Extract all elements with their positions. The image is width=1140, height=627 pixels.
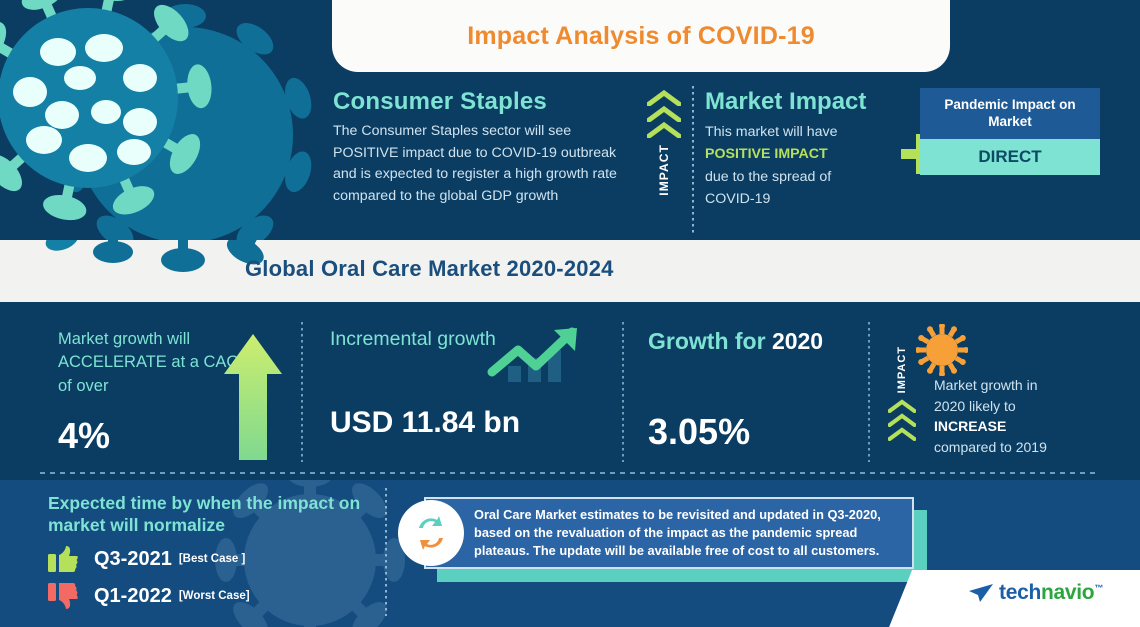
market-impact-line2: due to the spread of [705,169,831,185]
consumer-staples-body: The Consumer Staples sector will see POS… [333,121,633,207]
up-arrow-icon [222,332,284,462]
market-impact-heading: Market Impact [705,88,895,116]
thumbs-up-icon [48,545,78,573]
refresh-icon [398,500,464,566]
metrics-divider-3 [868,322,870,462]
header-impact-indicator: IMPACT [636,90,692,240]
header-divider [692,86,694,236]
logo-trademark: ™ [1094,583,1103,593]
worst-case-label: Q1-2022 [94,585,172,608]
thumbs-down-icon [48,582,78,610]
chevron-up-icon [647,122,681,138]
metric-growth-2020: Growth for 2020 3.05% [648,328,878,453]
logo-navio-part: navio [1041,581,1094,604]
metric-impact-text: Market growth in 2020 likely to INCREASE… [934,375,1114,458]
chevron-up-icon [888,399,916,413]
growth-lead: Growth for 2020 [648,328,878,355]
metric-impact-label: IMPACT [896,346,908,393]
growth-chart-icon [480,324,592,386]
bottom-divider [385,488,387,616]
callout-box: Oral Care Market estimates to be revisit… [424,497,914,569]
growth-lead-year: 2020 [772,328,823,354]
virus-illustration [0,0,340,240]
normalize-block: Expected time by when the impact on mark… [48,492,378,610]
header-section: Impact Analysis of COVID-19 Consumer Sta… [0,0,1140,240]
market-impact-line1: This market will have [705,124,837,140]
impact-highlight: INCREASE [934,418,1006,434]
pandemic-impact-title: Pandemic Impact on Market [920,88,1100,139]
technavio-arrow-icon [968,582,994,604]
market-title-bar: Global Oral Care Market 2020-2024 [0,240,1140,302]
chevron-up-icon [888,413,916,427]
chevron-stack [647,90,681,138]
metrics-bottom-divider [40,472,1098,474]
metrics-section: Market growth will ACCELERATE at a CAGR … [0,302,1140,480]
bottom-section: Expected time by when the impact on mark… [0,480,1140,627]
best-case-row: Q3-2021 [Best Case ] [48,545,378,573]
title-pill: Impact Analysis of COVID-19 [332,0,950,72]
chevron-up-icon [888,427,916,441]
pandemic-impact-value: DIRECT [920,139,1100,175]
consumer-staples-heading: Consumer Staples [333,88,633,116]
metric-impact: IMPACT [888,320,1128,470]
impact-line1: Market growth in [934,377,1037,393]
pandemic-impact-card: Pandemic Impact on Market DIRECT [920,88,1100,175]
metrics-divider-1 [301,322,303,462]
callout-text: Oral Care Market estimates to be revisit… [426,506,912,560]
best-case-label: Q3-2021 [94,548,172,571]
worst-case-note: [Worst Case] [179,590,250,602]
metric-impact-indicator: IMPACT [888,346,916,441]
consumer-staples-block: Consumer Staples The Consumer Staples se… [333,88,633,207]
impact-line3: compared to 2019 [934,439,1047,455]
infographic-root: Impact Analysis of COVID-19 Consumer Sta… [0,0,1140,627]
market-title: Global Oral Care Market 2020-2024 [245,256,614,282]
chevron-up-icon [647,106,681,122]
market-impact-body: This market will have POSITIVE IMPACT du… [705,121,895,211]
logo-tech-part: tech [999,581,1041,604]
virus-icon [916,324,968,376]
incremental-value: USD 11.84 bn [330,406,570,440]
growth-lead-teal: Growth for [648,328,772,354]
chevron-up-icon [647,90,681,106]
growth-value: 3.05% [648,411,878,453]
market-impact-block: Market Impact This market will have POSI… [705,88,895,211]
market-impact-highlight: POSITIVE IMPACT [705,146,828,162]
worst-case-row: Q1-2022 [Worst Case] [48,582,378,610]
impact-label: IMPACT [657,144,671,196]
refresh-arrows-icon [409,511,453,555]
market-impact-line3: COVID-19 [705,191,770,207]
metrics-divider-2 [622,322,624,462]
normalize-heading: Expected time by when the impact on mark… [48,492,378,536]
technavio-wordmark: technavio™ [999,581,1103,605]
technavio-logo: technavio™ [968,581,1103,605]
page-title: Impact Analysis of COVID-19 [467,22,815,51]
best-case-note: [Best Case ] [179,553,245,565]
impact-line2: 2020 likely to [934,398,1016,414]
